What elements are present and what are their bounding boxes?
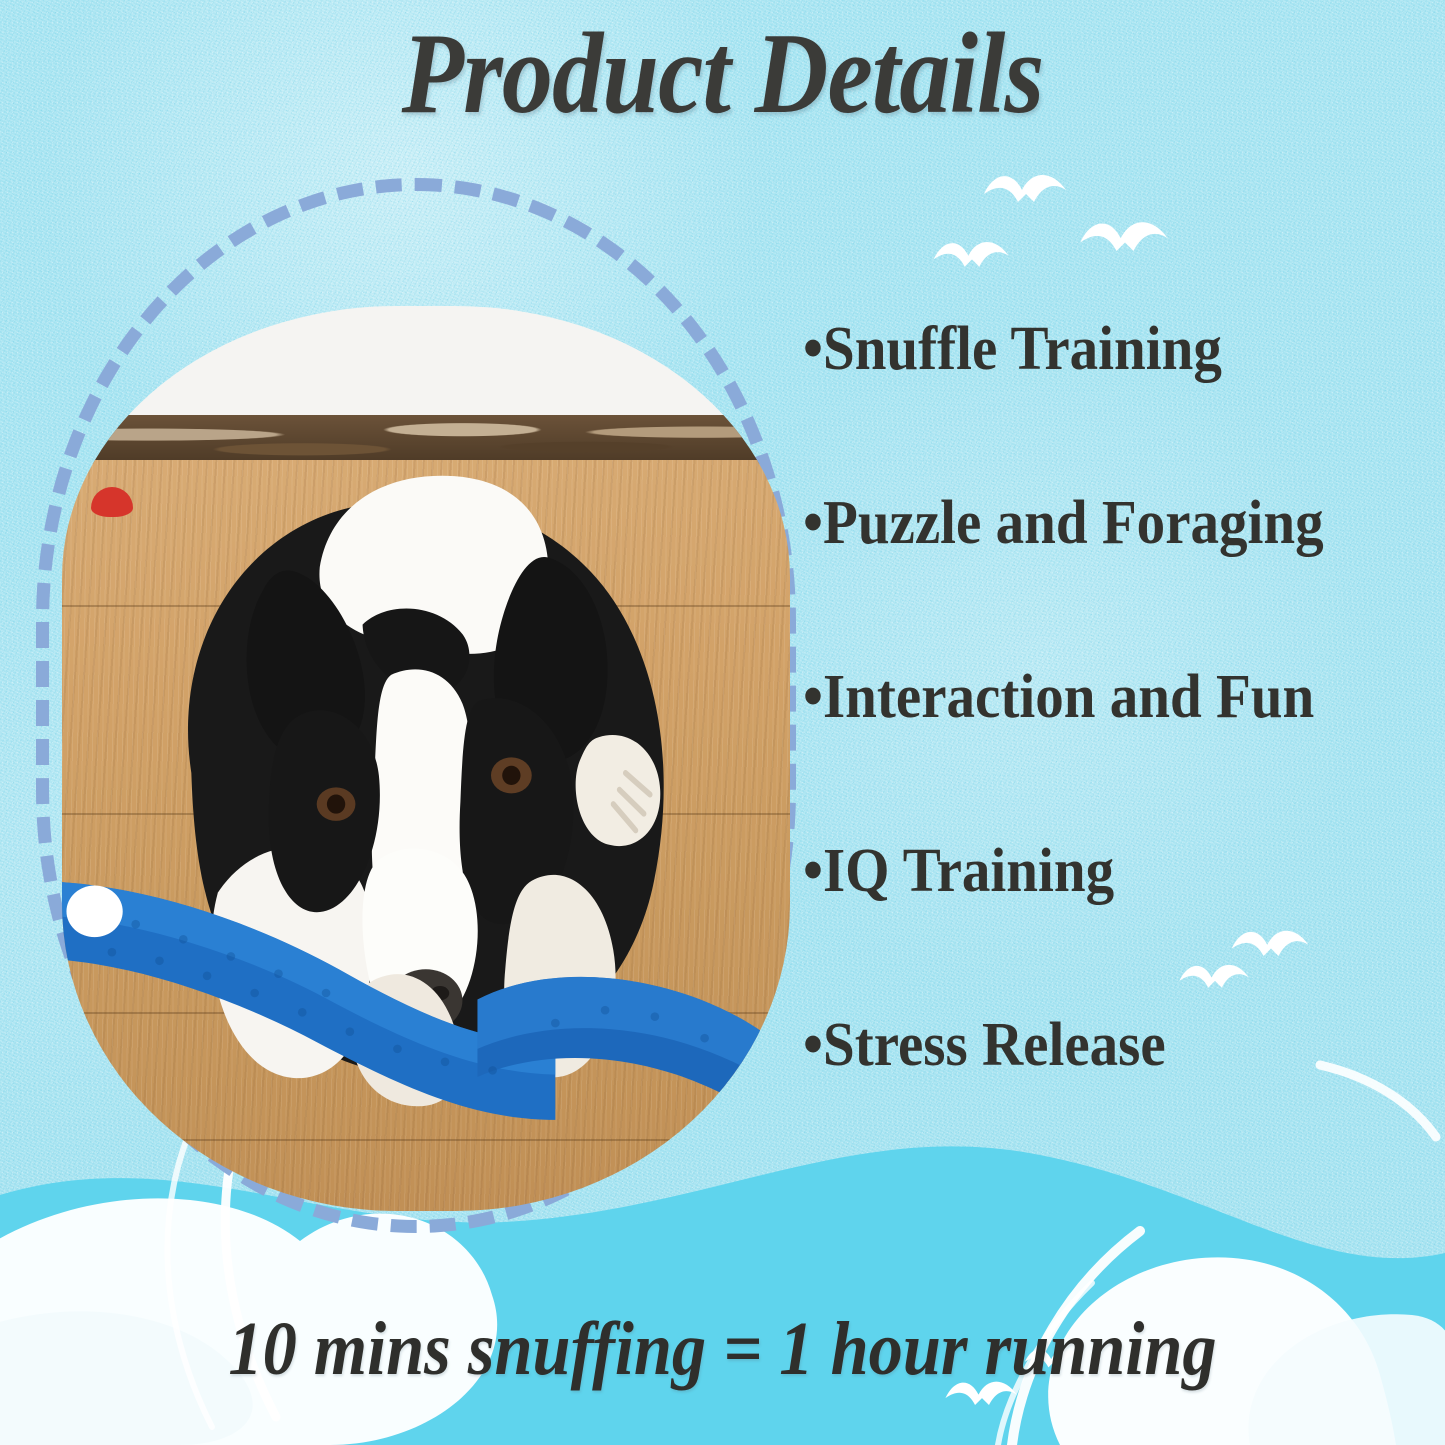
- footer-tagline: 10 mins snuffing = 1 hour running: [72, 1311, 1373, 1387]
- list-item: •Stress Release: [803, 1014, 1392, 1076]
- bullet-icon: •: [803, 1011, 823, 1079]
- feature-label: Snuffle Training: [823, 315, 1222, 383]
- feature-label: Interaction and Fun: [823, 663, 1314, 731]
- list-item: •IQ Training: [803, 840, 1392, 902]
- bullet-icon: •: [803, 315, 823, 383]
- bullet-icon: •: [803, 663, 823, 731]
- bullet-icon: •: [803, 837, 823, 905]
- list-item: •Puzzle and Foraging: [803, 492, 1392, 554]
- seagull-icon: [1076, 206, 1174, 264]
- snuffle-toy-illustration: [62, 849, 790, 1193]
- list-item: •Snuffle Training: [803, 318, 1392, 380]
- seagull-icon: [930, 228, 1014, 278]
- infographic-canvas: Product Details: [0, 0, 1445, 1445]
- feature-label: Puzzle and Foraging: [823, 489, 1324, 557]
- feature-label: IQ Training: [823, 837, 1114, 905]
- bullet-icon: •: [803, 489, 823, 557]
- list-item: •Interaction and Fun: [803, 666, 1392, 728]
- page-title: Product Details: [87, 14, 1359, 136]
- feature-label: Stress Release: [823, 1011, 1166, 1079]
- product-photo-frame: [36, 178, 796, 1233]
- feature-list: •Snuffle Training •Puzzle and Foraging •…: [803, 318, 1443, 1076]
- product-photo: [62, 306, 790, 1211]
- seagull-icon: [980, 160, 1072, 214]
